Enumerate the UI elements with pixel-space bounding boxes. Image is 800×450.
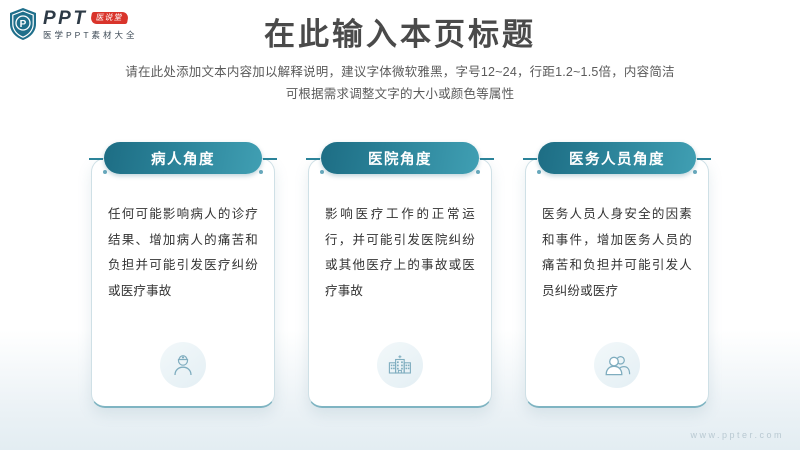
subtitle-line-1: 请在此处添加文本内容加以解释说明，建议字体微软雅黑，字号12~24，行距1.2~…	[0, 62, 800, 84]
card-patient[interactable]: 任何可能影响病人的诊疗结果、增加病人的痛苦和负担并可能引发医疗纠纷或医疗事故	[91, 158, 275, 408]
card-body-text: 任何可能影响病人的诊疗结果、增加病人的痛苦和负担并可能引发医疗纠纷或医疗事故	[108, 202, 258, 305]
card-header-patient[interactable]: 病人角度	[104, 142, 262, 174]
card-corner-dot-right	[693, 170, 697, 174]
page-subtitle: 请在此处添加文本内容加以解释说明，建议字体微软雅黑，字号12~24，行距1.2~…	[0, 62, 800, 106]
card-medical-staff[interactable]: 医务人员人身安全的因素和事件，增加医务人员的痛苦和负担并可能引发人员纠纷或医疗	[525, 158, 709, 408]
subtitle-line-2: 可根据需求调整文字的大小或颜色等属性	[0, 84, 800, 106]
card-corner-dot-right	[476, 170, 480, 174]
card-header-hospital[interactable]: 医院角度	[321, 142, 479, 174]
card-body-text: 影响医疗工作的正常运行，并可能引发医院纠纷或其他医疗上的事故或医疗事故	[325, 202, 475, 305]
card-hospital[interactable]: 影响医疗工作的正常运行，并可能引发医院纠纷或其他医疗上的事故或医疗事故	[308, 158, 492, 408]
card-corner-dot-right	[259, 170, 263, 174]
doctor-person-icon	[160, 342, 206, 388]
page-title: 在此输入本页标题	[0, 18, 800, 52]
card-header-medical-staff[interactable]: 医务人员角度	[538, 142, 696, 174]
card-corner-dot-left	[537, 170, 541, 174]
card-row: 任何可能影响病人的诊疗结果、增加病人的痛苦和负担并可能引发医疗纠纷或医疗事故 影…	[0, 158, 800, 420]
hospital-building-icon	[377, 342, 423, 388]
watermark: www.ppter.com	[690, 430, 784, 440]
card-header-row: 病人角度 医院角度 医务人员角度	[0, 141, 800, 175]
two-people-icon	[594, 342, 640, 388]
card-corner-dot-left	[320, 170, 324, 174]
card-body-text: 医务人员人身安全的因素和事件，增加医务人员的痛苦和负担并可能引发人员纠纷或医疗	[542, 202, 692, 305]
card-corner-dot-left	[103, 170, 107, 174]
